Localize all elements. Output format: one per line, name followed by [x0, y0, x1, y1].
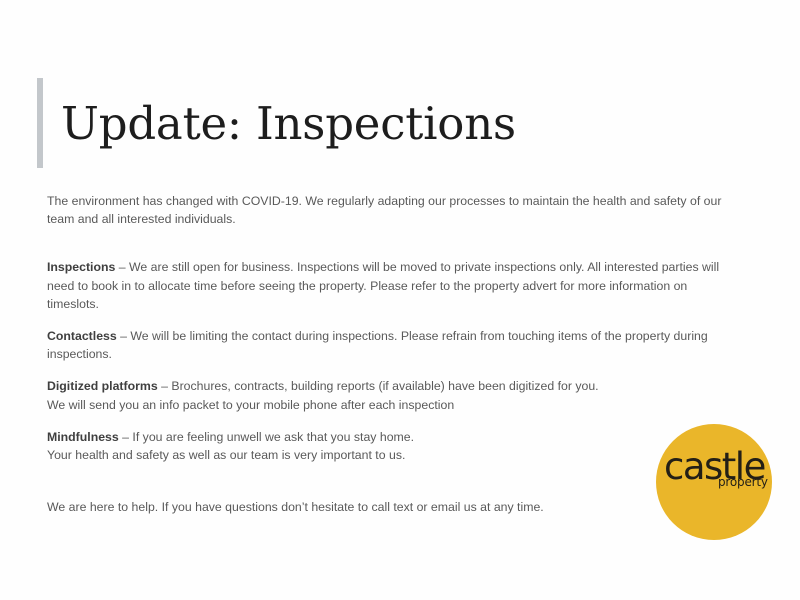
spacer: [47, 228, 737, 258]
intro-paragraph: The environment has changed with COVID-1…: [47, 192, 737, 228]
castle-property-logo: castle property: [656, 424, 772, 520]
section-contactless-body: We will be limiting the contact during i…: [47, 329, 708, 361]
section-digitized-dash: –: [158, 379, 172, 393]
spacer: [47, 313, 737, 327]
title-text: Update: Inspections: [43, 101, 516, 146]
spacer: [47, 363, 737, 377]
page-title: Update: Inspections: [37, 78, 516, 168]
section-inspections-lead: Inspections: [47, 260, 115, 274]
section-contactless-dash: –: [117, 329, 131, 343]
section-mindfulness-lead: Mindfulness: [47, 430, 119, 444]
section-mindfulness-line1: Mindfulness – If you are feeling unwell …: [47, 428, 647, 446]
section-contactless: Contactless – We will be limiting the co…: [47, 327, 737, 363]
section-digitized-line2: We will send you an info packet to your …: [47, 396, 647, 414]
logo-subtitle-text: property: [718, 476, 768, 488]
section-inspections-body: We are still open for business. Inspecti…: [47, 260, 719, 310]
spacer: [47, 414, 737, 428]
section-inspections: Inspections – We are still open for busi…: [47, 258, 737, 313]
section-inspections-dash: –: [115, 260, 129, 274]
section-digitized-line1: Digitized platforms – Brochures, contrac…: [47, 377, 647, 395]
closing-paragraph: We are here to help. If you have questio…: [47, 498, 737, 516]
section-mindfulness-body: If you are feeling unwell we ask that yo…: [132, 430, 414, 444]
section-digitized-lead: Digitized platforms: [47, 379, 158, 393]
section-mindfulness-dash: –: [119, 430, 133, 444]
slide-canvas: Update: Inspections The environment has …: [0, 0, 800, 600]
section-digitized-body: Brochures, contracts, building reports (…: [171, 379, 598, 393]
body-content: The environment has changed with COVID-1…: [47, 192, 737, 516]
section-contactless-lead: Contactless: [47, 329, 117, 343]
section-mindfulness-line2: Your health and safety as well as our te…: [47, 446, 647, 464]
spacer: [47, 464, 737, 498]
